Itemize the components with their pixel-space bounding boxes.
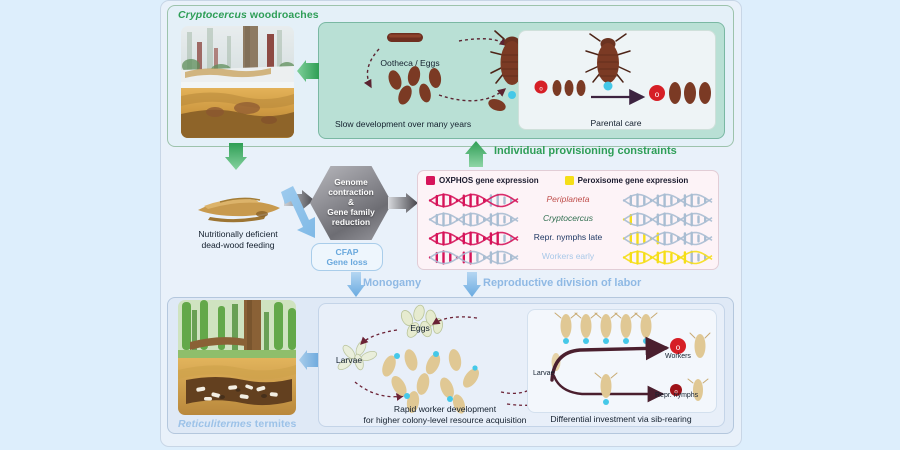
- svg-text:o: o: [676, 343, 681, 352]
- dna-row: Repr. nymphs late: [418, 229, 718, 248]
- dna-row: Periplaneta: [418, 191, 718, 210]
- legend-item-oxphos: OXPHOS gene expression: [426, 176, 539, 185]
- dna-row-label: Repr. nymphs late: [518, 232, 618, 242]
- rapid-worker-line1: Rapid worker development: [330, 404, 560, 415]
- legend-swatch-oxphos: [426, 176, 435, 185]
- larvae-label: Larvae: [325, 355, 373, 366]
- panel-title-suffix-bot: termites: [252, 418, 297, 430]
- gene-expression-legend: OXPHOS gene expression Peroxisome gene e…: [426, 176, 712, 185]
- graphical-abstract: Cryptocercus woodroaches: [0, 0, 900, 450]
- summer-forest-image: [178, 300, 296, 415]
- arrow-blue-left: [298, 350, 320, 375]
- cfap-line1: CFAP: [326, 247, 367, 257]
- panel-title-suffix-top: woodroaches: [247, 9, 319, 21]
- arrow-green-left: [296, 60, 320, 87]
- legend-swatch-peroxisome: [565, 176, 574, 185]
- legend-item-peroxisome: Peroxisome gene expression: [565, 176, 689, 185]
- flow-label-provisioning: Individual provisioning constraints: [494, 145, 677, 157]
- dna-helix-peroxisome: [621, 230, 709, 247]
- flow-label-monogamy: Monogamy: [363, 277, 421, 289]
- ootheca-label: Ootheca / Eggs: [350, 58, 470, 69]
- legend-label-oxphos: OXPHOS gene expression: [439, 176, 539, 185]
- arrow-green-up: [465, 141, 487, 172]
- dna-row: Workers early: [418, 248, 718, 267]
- dna-helix-oxphos: [427, 211, 515, 228]
- parental-care-box: o o: [518, 30, 716, 130]
- dna-helix-oxphos: [427, 192, 515, 209]
- rapid-worker-caption: Rapid worker development for higher colo…: [330, 404, 560, 426]
- cfap-line2: Gene loss: [326, 257, 367, 267]
- cfap-gene-loss-node: CFAP Gene loss: [311, 243, 383, 271]
- dna-row-list: PeriplanetaCryptocercusRepr. nymphs late…: [418, 191, 718, 267]
- dna-row-label: Workers early: [518, 251, 618, 261]
- dna-helix-peroxisome: [621, 211, 709, 228]
- arrow-gray-to-genepanel: [388, 193, 418, 218]
- panel-title-reticulitermes: Reticulitermes termites: [178, 418, 296, 430]
- dna-helix-oxphos: [427, 230, 515, 247]
- species-name-cryptocercus: Cryptocercus: [178, 9, 247, 21]
- sib-repr-nymphs-label: Repr. nymphs: [655, 392, 698, 399]
- dna-row-label: Periplaneta: [518, 194, 618, 204]
- deadwood-image: [190, 190, 286, 226]
- sib-workers-label: Workers: [665, 353, 691, 360]
- species-name-reticulitermes: Reticulitermes: [178, 418, 252, 430]
- dna-helix-peroxisome: [621, 192, 709, 209]
- arrow-green-down: [225, 143, 247, 176]
- dna-helix-oxphos: [427, 249, 515, 266]
- dna-row: Cryptocercus: [418, 210, 718, 229]
- svg-text:o: o: [655, 90, 660, 99]
- parental-care-caption: Parental care: [540, 118, 692, 129]
- flow-label-division-of-labor: Reproductive division of labor: [483, 277, 641, 289]
- slow-development-caption: Slow development over many years: [335, 119, 515, 130]
- dna-row-label: Cryptocercus: [518, 213, 618, 223]
- winter-forest-image: [181, 26, 294, 138]
- dna-helix-peroxisome: [621, 249, 709, 266]
- panel-title-cryptocercus: Cryptocercus woodroaches: [178, 9, 319, 21]
- legend-label-peroxisome: Peroxisome gene expression: [578, 176, 689, 185]
- genome-line5: reduction: [327, 218, 374, 228]
- eggs-label: Eggs: [390, 323, 450, 334]
- sib-larvae-label: Larvae: [533, 370, 554, 377]
- gene-expression-panel: OXPHOS gene expression Peroxisome gene e…: [417, 170, 719, 270]
- rapid-worker-line2: for higher colony-level resource acquisi…: [330, 415, 560, 426]
- sib-rearing-caption: Differential investment via sib-rearing: [530, 414, 712, 425]
